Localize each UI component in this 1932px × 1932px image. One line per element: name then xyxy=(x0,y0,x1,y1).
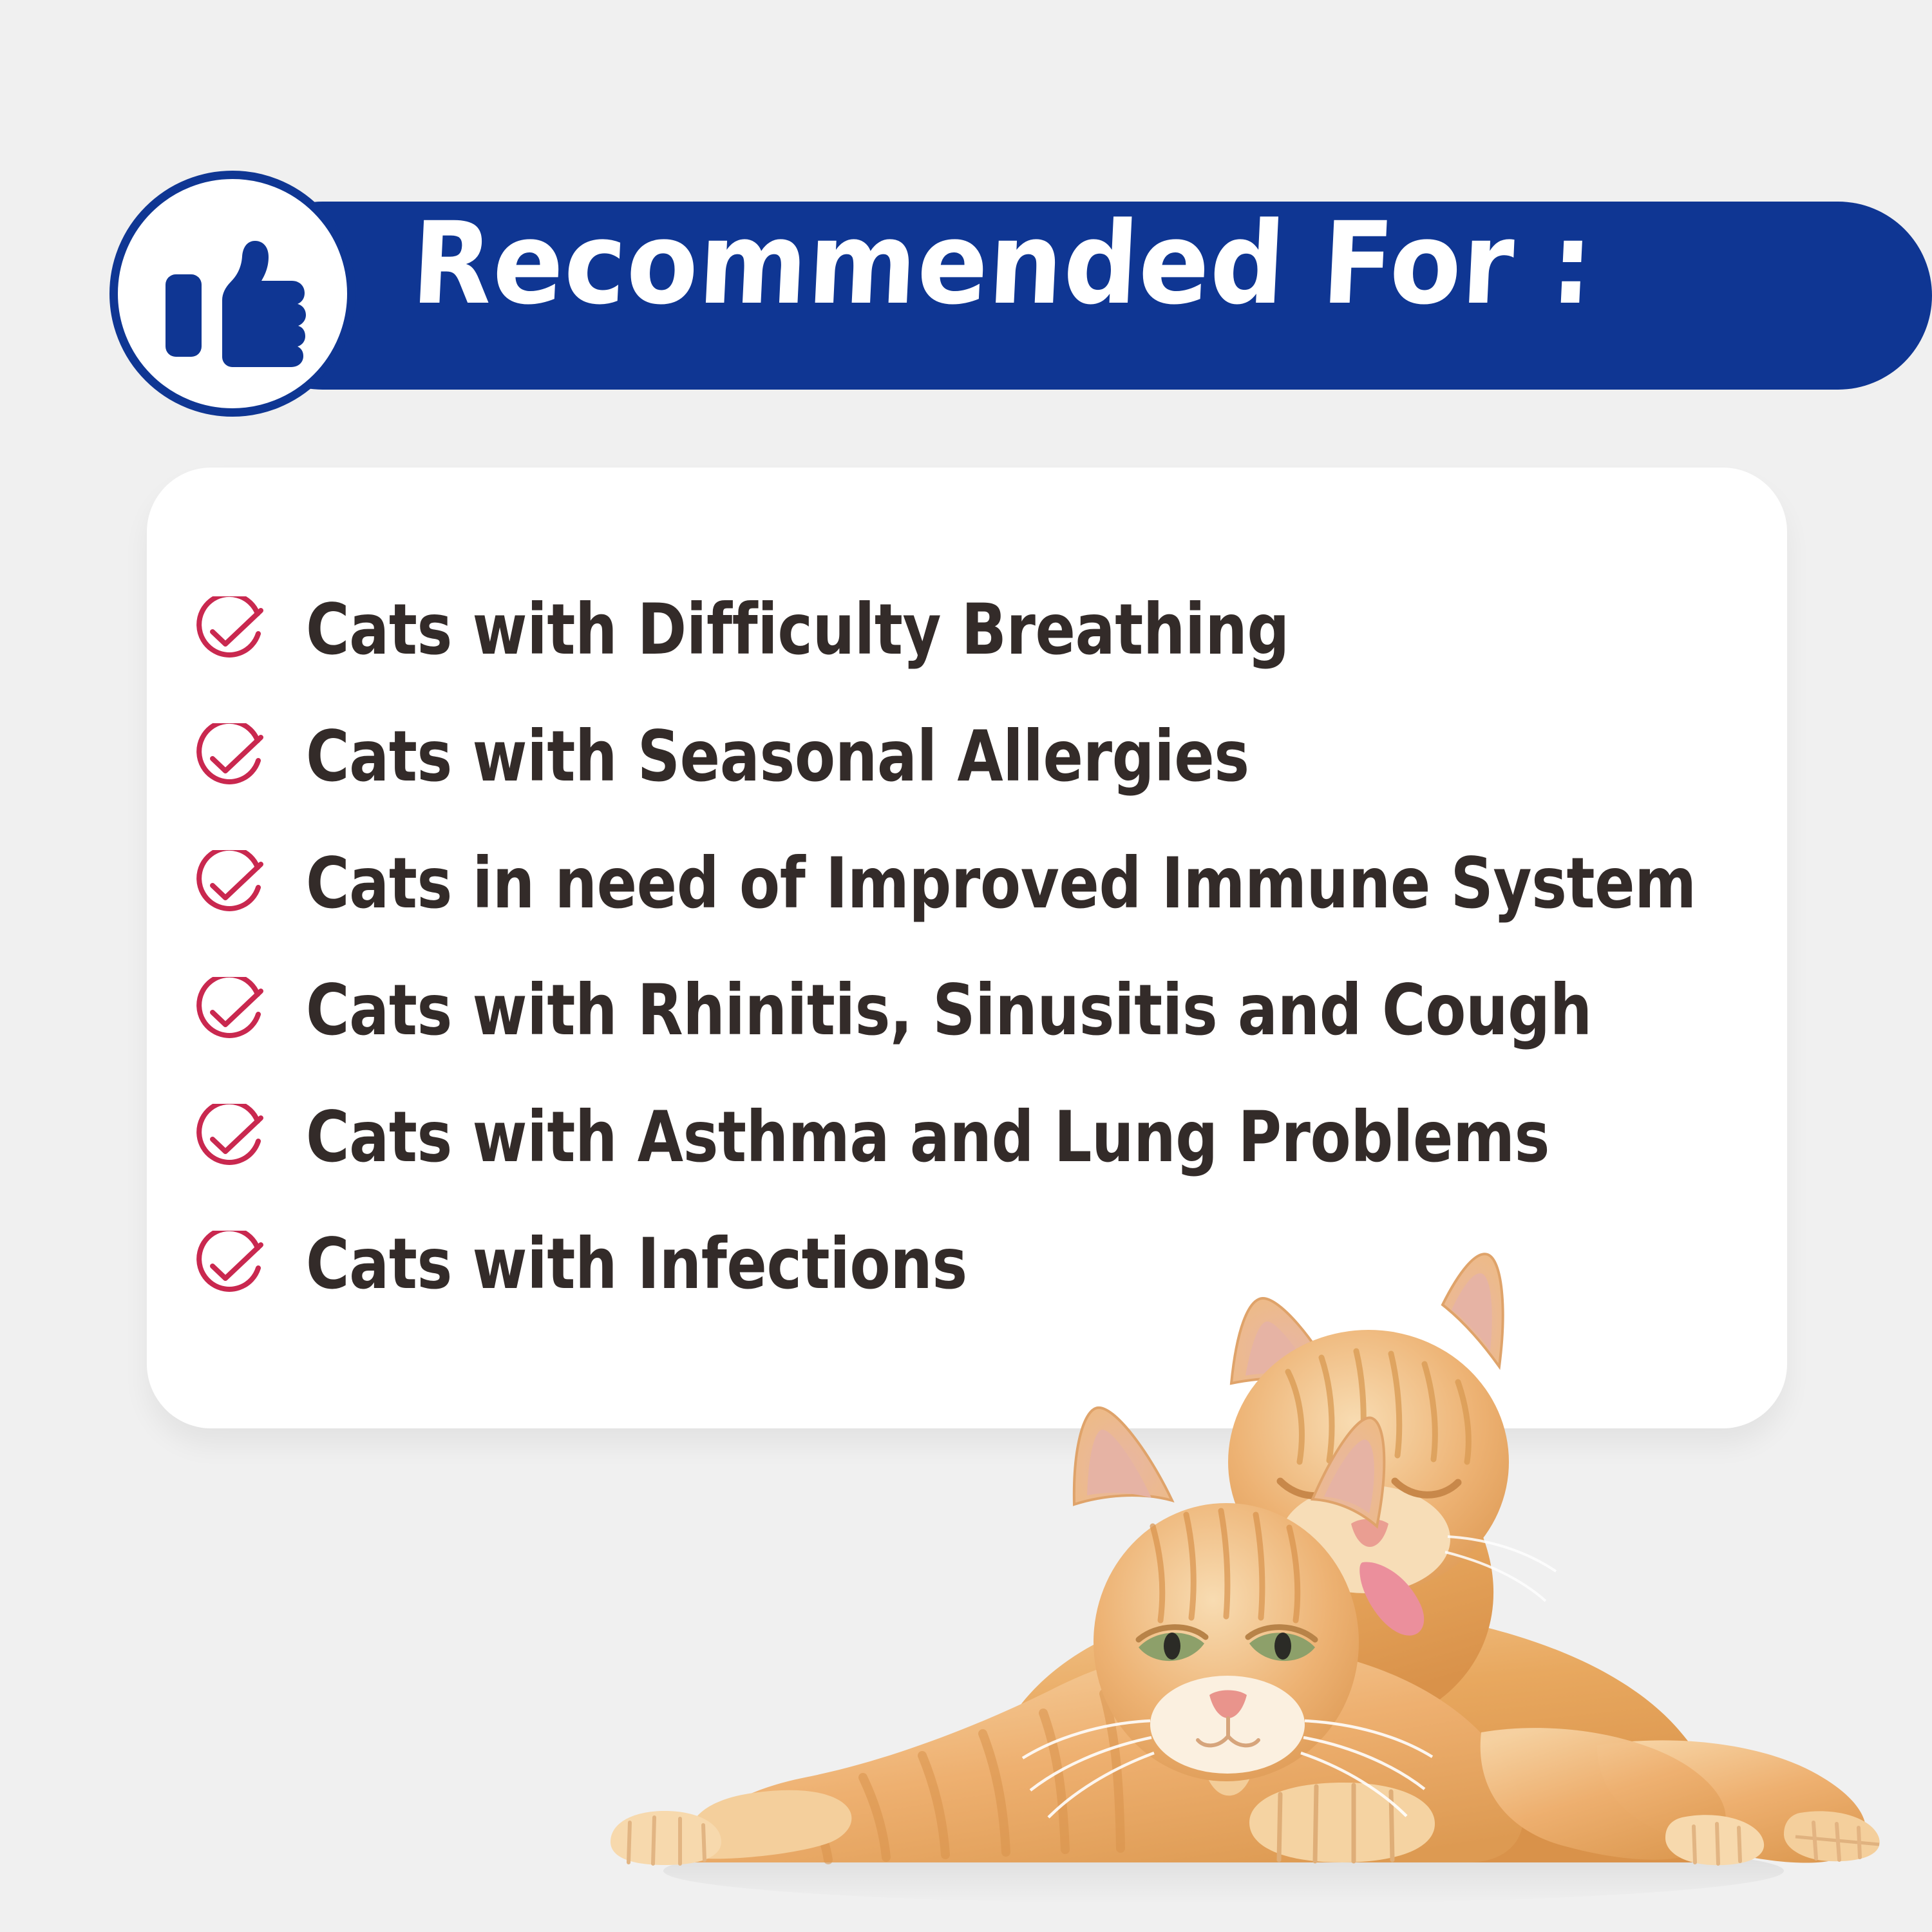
list-item-label: Cats with Rhinitis, Sinusitis and Cough xyxy=(306,968,1592,1053)
thumbs-up-icon xyxy=(166,234,310,370)
kitten-front xyxy=(611,1408,1764,1865)
list-item: Cats in need of Improved Immune System xyxy=(193,841,1739,968)
list-item: Cats with Difficulty Breathing xyxy=(193,587,1739,714)
thumbs-up-badge xyxy=(109,171,355,417)
kittens-photo xyxy=(528,1179,1919,1913)
list-item-label: Cats in need of Improved Immune System xyxy=(306,841,1696,926)
list-item: Cats with Rhinitis, Sinusitis and Cough xyxy=(193,968,1739,1095)
list-item-label: Cats with Difficulty Breathing xyxy=(306,587,1517,672)
list-item-label: Cats with Seasonal Allergies xyxy=(306,714,1517,799)
check-circle-icon xyxy=(193,723,264,794)
check-circle-icon xyxy=(193,850,264,921)
list-item: Cats with Seasonal Allergies xyxy=(193,714,1739,841)
poster-canvas: Recommended For : Cats with D xyxy=(0,0,1932,1932)
check-circle-icon xyxy=(193,596,264,667)
check-circle-icon xyxy=(193,1104,264,1175)
check-circle-icon xyxy=(193,977,264,1048)
page-title: Recommended For : xyxy=(409,193,1779,335)
check-circle-icon xyxy=(193,1231,264,1302)
header-banner: Recommended For : xyxy=(109,161,1835,431)
list-item-label: Cats with Asthma and Lung Problems xyxy=(306,1095,1549,1180)
